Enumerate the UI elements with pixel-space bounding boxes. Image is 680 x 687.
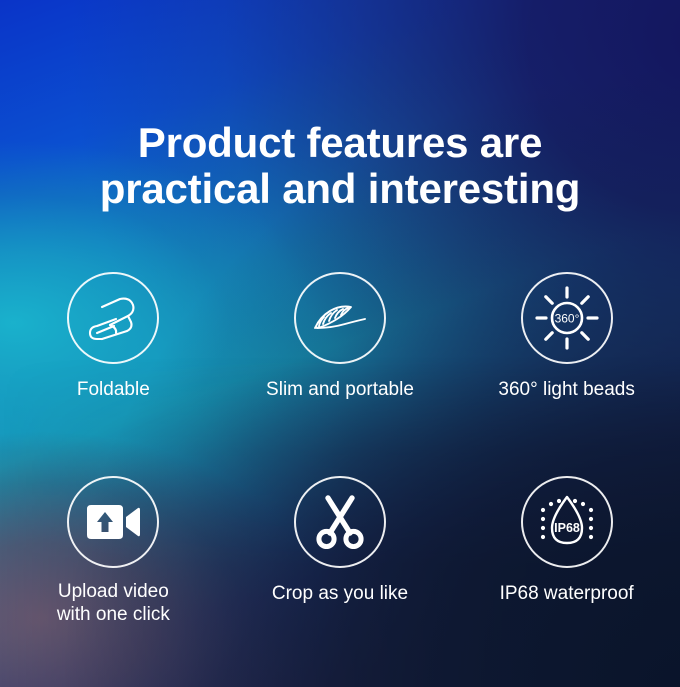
product-features-banner: Product features are practical and inter… (0, 0, 680, 687)
sun-360-icon-text: 360° (554, 312, 579, 326)
feature-label: IP68 waterproof (500, 582, 634, 605)
feather-icon (311, 299, 369, 337)
feature-label: Slim and portable (266, 378, 414, 401)
sun-360-icon: 360° (534, 285, 600, 351)
feature-row: Upload video with one click (0, 476, 680, 626)
feature-item-crop: Crop as you like (227, 476, 454, 626)
page-title-line-1: Product features are (0, 120, 680, 166)
folded-blanket-icon (86, 295, 140, 341)
feature-icon-circle (294, 476, 386, 568)
scissors-icon (315, 495, 365, 549)
feature-label: Foldable (77, 378, 150, 401)
feature-icon-circle (67, 476, 159, 568)
water-drop-ip68-icon-text: IP68 (554, 521, 580, 535)
feature-label: Upload video with one click (57, 580, 170, 626)
feature-label: Crop as you like (272, 582, 408, 605)
water-drop-ip68-icon: IP68 (534, 491, 600, 553)
feature-icon-circle: IP68 (521, 476, 613, 568)
feature-item-ip68-waterproof: IP68 (453, 476, 680, 626)
feature-icon-circle (294, 272, 386, 364)
feature-row: Foldable (0, 272, 680, 401)
feature-label: 360° light beads (498, 378, 634, 401)
page-title-line-2: practical and interesting (0, 166, 680, 212)
feature-item-slim-portable: Slim and portable (227, 272, 454, 401)
feature-item-360-light-beads: 360° 360° light beads (453, 272, 680, 401)
feature-icon-circle (67, 272, 159, 364)
video-upload-icon (85, 502, 141, 542)
feature-icon-circle: 360° (521, 272, 613, 364)
feature-grid: Foldable (0, 272, 680, 626)
page-title: Product features are practical and inter… (0, 120, 680, 212)
feature-item-foldable: Foldable (0, 272, 227, 401)
feature-item-upload-video: Upload video with one click (0, 476, 227, 626)
